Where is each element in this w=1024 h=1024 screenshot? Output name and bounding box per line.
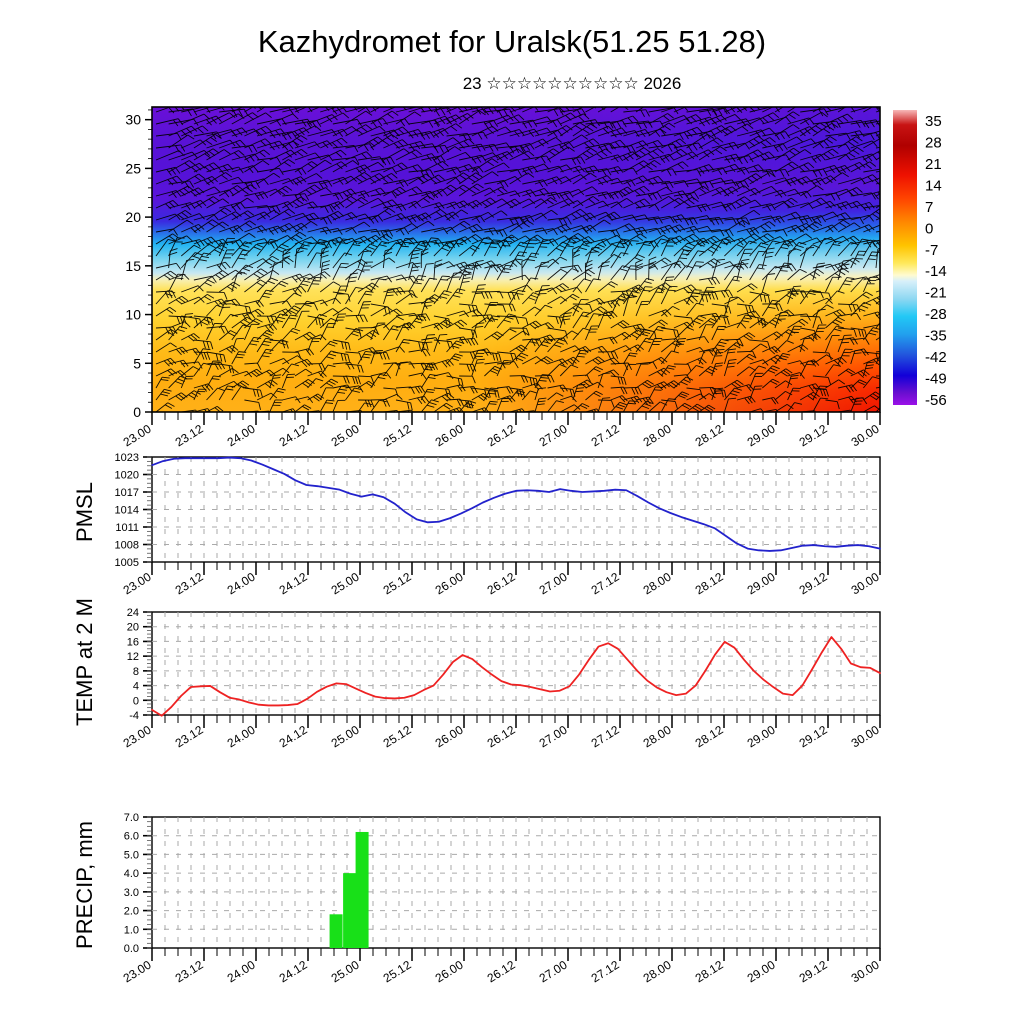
svg-text:21: 21 <box>925 156 942 173</box>
svg-text:-49: -49 <box>925 371 947 388</box>
precip-bar <box>343 873 356 948</box>
svg-text:-7: -7 <box>925 242 938 259</box>
svg-text:5: 5 <box>133 355 141 371</box>
svg-text:15: 15 <box>125 258 141 274</box>
precip-axis-label: PRECIP, mm <box>72 821 97 949</box>
svg-text:1020: 1020 <box>115 470 139 482</box>
svg-text:28: 28 <box>925 134 942 151</box>
temp-axis-label: TEMP at 2 M <box>72 598 97 726</box>
svg-text:-42: -42 <box>925 349 947 366</box>
svg-text:30: 30 <box>125 112 141 128</box>
svg-text:1023: 1023 <box>115 452 139 464</box>
precip-bar <box>356 832 369 948</box>
svg-text:7: 7 <box>925 199 933 216</box>
svg-text:-14: -14 <box>925 263 947 280</box>
meteogram-figure: Kazhydromet for Uralsk(51.25 51.28) 23 ☆… <box>0 0 1024 1024</box>
svg-text:-28: -28 <box>925 306 947 323</box>
svg-text:35: 35 <box>925 113 942 130</box>
svg-text:0: 0 <box>925 220 933 237</box>
svg-text:0: 0 <box>133 404 141 420</box>
svg-text:4: 4 <box>133 681 139 693</box>
pmsl-axis-label: PMSL <box>72 482 97 542</box>
svg-text:-21: -21 <box>925 285 947 302</box>
svg-text:1011: 1011 <box>115 522 139 534</box>
svg-text:10: 10 <box>125 307 141 323</box>
svg-text:20: 20 <box>127 622 139 634</box>
svg-text:8: 8 <box>133 666 139 678</box>
svg-text:1014: 1014 <box>115 505 139 517</box>
subtitle-date: 23 ☆☆☆☆☆☆☆☆☆☆ 2026 <box>463 74 682 93</box>
svg-text:12: 12 <box>127 651 139 663</box>
svg-text:1017: 1017 <box>115 487 139 499</box>
svg-text:14: 14 <box>925 177 942 194</box>
svg-text:-56: -56 <box>925 392 947 409</box>
cross-section-panel: 051015202530 23.0023.1224.0024.1225.0025… <box>121 98 904 449</box>
colorbar-gradient <box>893 110 917 405</box>
svg-text:0: 0 <box>133 695 139 707</box>
svg-text:1005: 1005 <box>115 557 139 569</box>
svg-text:-4: -4 <box>129 710 139 722</box>
svg-text:-35: -35 <box>925 328 947 345</box>
svg-text:25: 25 <box>125 160 141 176</box>
svg-text:20: 20 <box>125 209 141 225</box>
svg-text:16: 16 <box>127 636 139 648</box>
precip-bar <box>330 914 343 948</box>
svg-text:24: 24 <box>127 607 139 619</box>
page-title: Kazhydromet for Uralsk(51.25 51.28) <box>258 24 766 59</box>
svg-text:1008: 1008 <box>115 540 139 552</box>
